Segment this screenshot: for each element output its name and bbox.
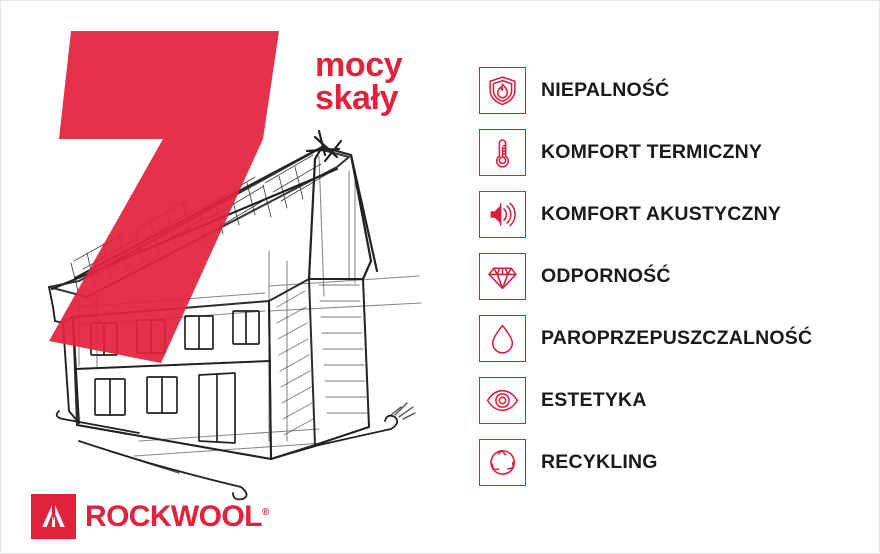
shield-flame-icon (479, 67, 526, 114)
feature-item-niepalnosc[interactable]: NIEPALNOŚĆ (479, 59, 879, 121)
recycling-arrows-icon (479, 439, 526, 486)
feature-item-odpornosc[interactable]: ODPORNOŚĆ (479, 245, 879, 307)
eye-icon (479, 377, 526, 424)
feature-item-komfort-termiczny[interactable]: KOMFORT TERMICZNY (479, 121, 879, 183)
registered-trademark-icon: ® (262, 507, 269, 518)
hero-claim-line-2: skały (315, 82, 455, 115)
feature-label: KOMFORT TERMICZNY (541, 141, 762, 164)
rockwool-wordmark-text: ROCKWOOL (85, 500, 262, 533)
feature-label: ODPORNOŚĆ (541, 265, 671, 288)
speaker-waves-icon (479, 191, 526, 238)
rockwool-logo[interactable]: ROCKWOOL® (31, 494, 269, 539)
feature-item-estetyka[interactable]: ESTETYKA (479, 369, 879, 431)
feature-label: KOMFORT AKUSTYCZNY (541, 203, 781, 226)
feature-item-recykling[interactable]: RECYKLING (479, 431, 879, 493)
rockwool-wordmark: ROCKWOOL® (85, 502, 269, 532)
feature-label: RECYKLING (541, 451, 658, 474)
feature-label: ESTETYKA (541, 389, 647, 412)
diamond-icon (479, 253, 526, 300)
numeral-seven-graphic (31, 11, 361, 371)
feature-label: PAROPRZEPUSZCZALNOŚĆ (541, 327, 812, 350)
thermometer-icon (479, 129, 526, 176)
water-droplet-icon (479, 315, 526, 362)
hero-claim-line-1: mocy (315, 49, 455, 82)
feature-list: NIEPALNOŚĆ KOMFORT TERMICZNY (479, 59, 879, 493)
rockwool-peaks-icon (31, 494, 76, 539)
hero-claim: mocy skały (315, 49, 455, 116)
hero-graphic-panel: mocy skały (1, 1, 471, 554)
feature-item-komfort-akustyczny[interactable]: KOMFORT AKUSTYCZNY (479, 183, 879, 245)
infographic-canvas: mocy skały NIEPALNOŚĆ (0, 0, 880, 554)
feature-label: NIEPALNOŚĆ (541, 79, 669, 102)
feature-item-paroprzepuszczalnosc[interactable]: PAROPRZEPUSZCZALNOŚĆ (479, 307, 879, 369)
